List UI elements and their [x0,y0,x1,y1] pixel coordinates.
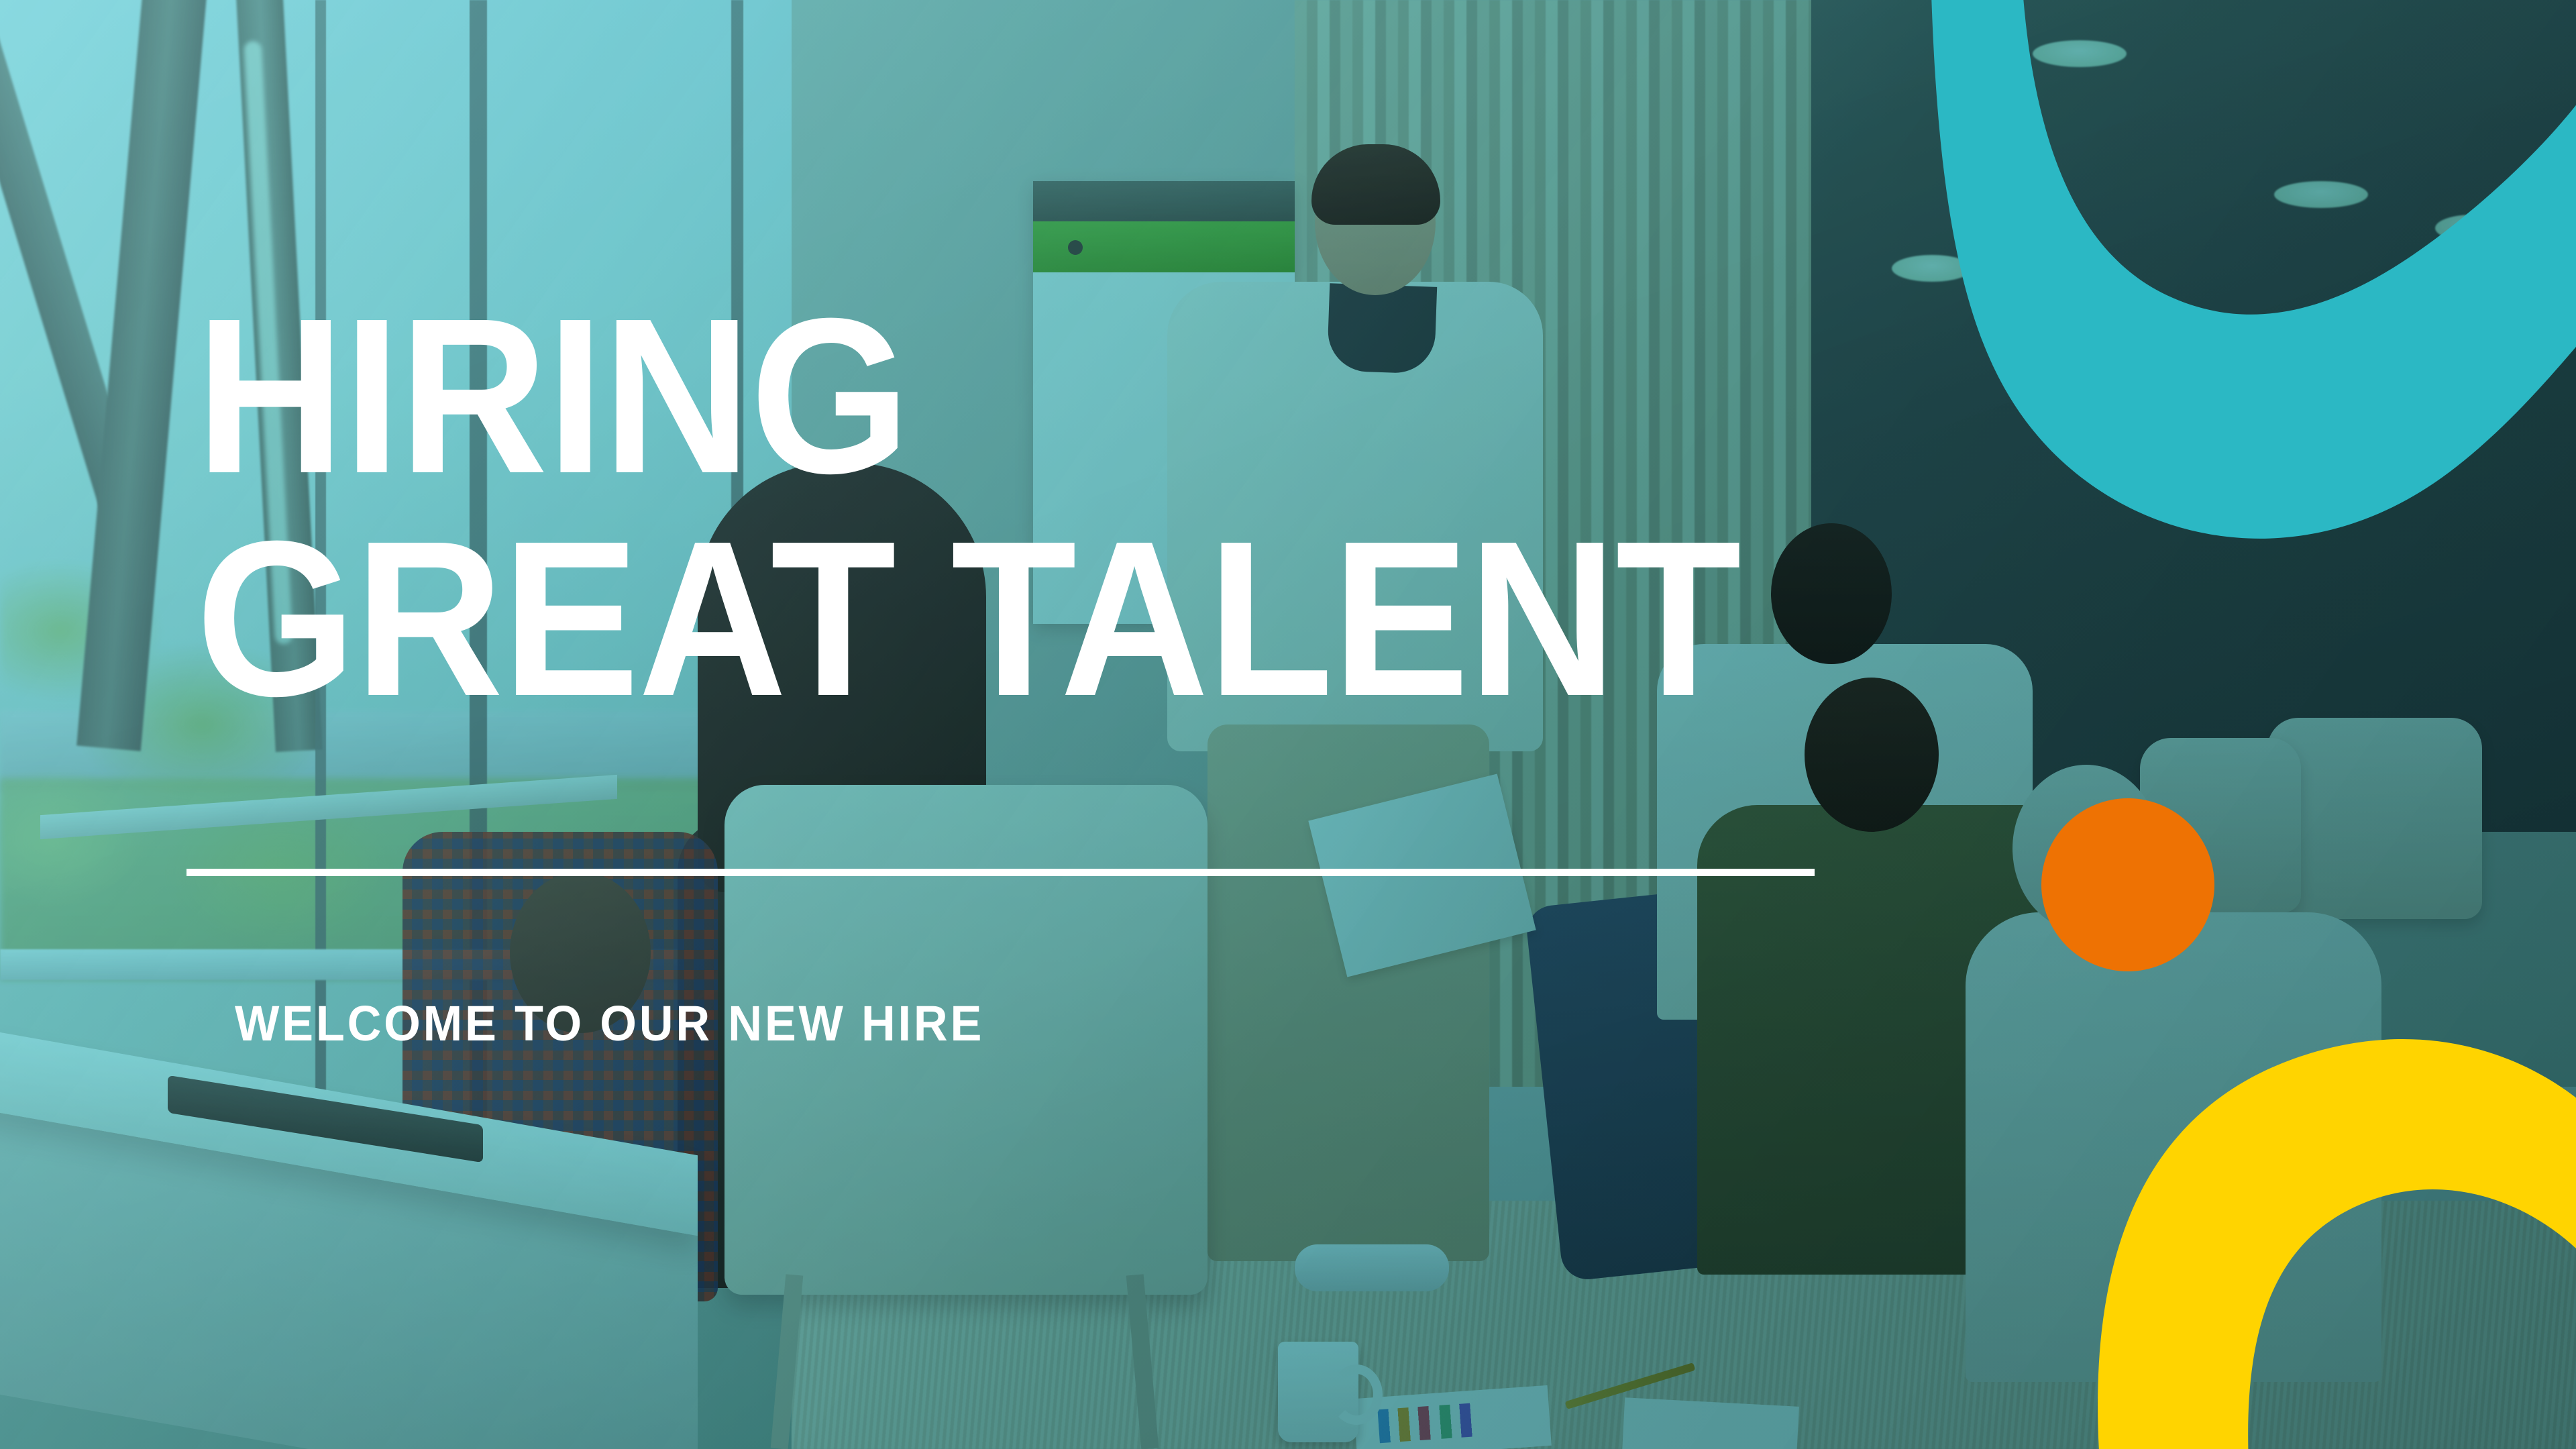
headline-line-1: HIRING [196,305,909,487]
poster-canvas: HIRING GREAT TALENT WELCOME TO OUR NEW H… [0,0,2576,1449]
divider-rule [186,869,1815,876]
headline-line-2: GREAT TALENT [196,528,1740,710]
subheading: WELCOME TO OUR NEW HIRE [235,995,984,1052]
